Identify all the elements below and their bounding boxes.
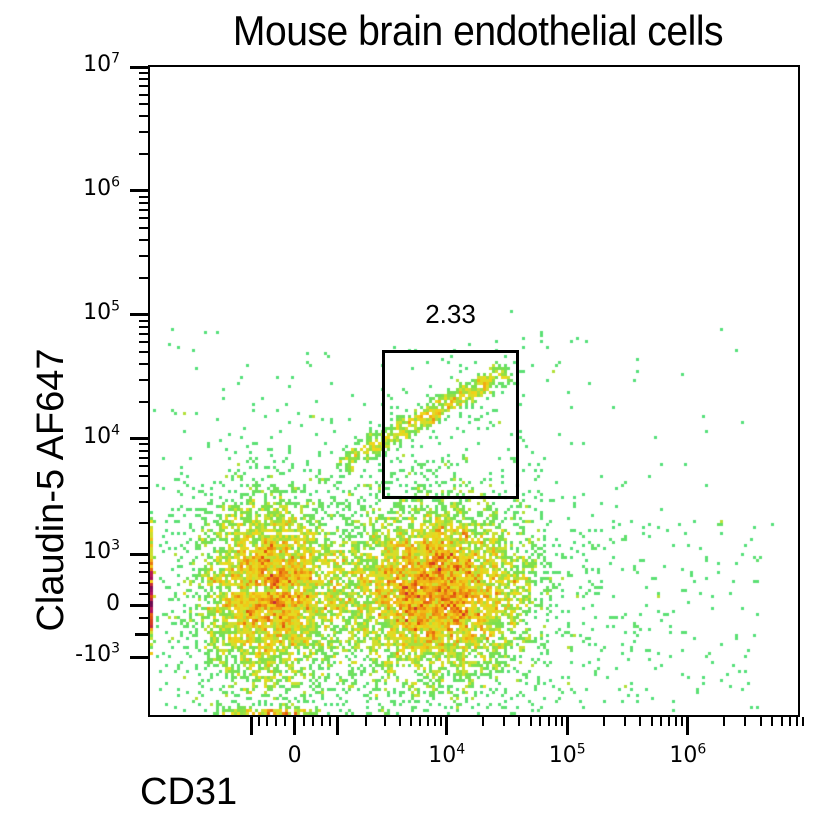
y-tick (130, 656, 148, 659)
x-tick (555, 717, 557, 726)
x-axis-title: CD31 (140, 772, 237, 812)
y-tick (139, 153, 148, 155)
x-tick (275, 717, 277, 726)
y-tick (139, 239, 148, 241)
y-tick-label: 0 (40, 593, 120, 615)
x-tick (603, 717, 605, 726)
x-tick (434, 717, 436, 726)
x-tick (440, 717, 442, 726)
x-tick (303, 717, 305, 726)
y-tick (139, 475, 148, 477)
x-tick-label: 106 (643, 745, 733, 767)
x-tick (675, 717, 677, 726)
x-tick (668, 717, 670, 726)
gate-percent-label: 2.33 (342, 300, 559, 328)
x-tick (781, 717, 783, 726)
x-tick (365, 717, 367, 726)
y-tick (139, 72, 148, 74)
y-tick (139, 94, 148, 96)
x-tick (321, 717, 323, 726)
y-tick (139, 617, 148, 619)
y-tick (139, 103, 148, 105)
y-tick (139, 582, 148, 584)
y-tick (139, 341, 148, 343)
x-tick (789, 717, 791, 726)
x-tick (419, 717, 421, 726)
y-tick (130, 553, 148, 556)
y-tick (139, 255, 148, 257)
y-tick (139, 487, 148, 489)
x-tick (660, 717, 662, 726)
x-tick (796, 717, 798, 726)
x-tick (312, 717, 314, 726)
y-tick (130, 189, 148, 192)
y-tick-label: 106 (40, 178, 120, 200)
y-tick-label: 107 (40, 54, 120, 76)
y-tick (139, 326, 148, 328)
x-tick (686, 717, 689, 735)
x-tick (258, 717, 260, 726)
x-tick (530, 717, 532, 726)
x-tick (723, 717, 725, 726)
x-tick (445, 717, 448, 735)
y-tick (139, 131, 148, 133)
y-tick (135, 633, 148, 636)
y-tick (139, 562, 148, 564)
y-tick (130, 66, 148, 69)
x-tick (651, 717, 653, 726)
x-tick (482, 717, 484, 726)
x-tick (384, 717, 386, 726)
x-tick (566, 717, 569, 735)
x-tick (639, 717, 641, 726)
x-tick (760, 717, 762, 726)
x-tick (771, 717, 773, 726)
y-tick (139, 202, 148, 204)
y-tick-label: 105 (40, 302, 120, 324)
x-tick (427, 717, 429, 726)
y-tick-label: -103 (40, 644, 120, 666)
y-tick-label: 104 (40, 426, 120, 448)
y-tick (139, 363, 148, 365)
y-tick (139, 333, 148, 335)
x-tick (266, 717, 268, 726)
x-tick (399, 717, 401, 726)
x-tick (250, 717, 253, 735)
y-tick (139, 593, 148, 595)
y-tick (139, 78, 148, 80)
y-tick (139, 443, 148, 445)
x-tick (503, 717, 505, 726)
x-tick (336, 717, 339, 735)
y-tick (130, 313, 148, 316)
y-tick (139, 465, 148, 467)
x-tick-label: 104 (402, 745, 492, 767)
y-tick (139, 522, 148, 524)
page-title: Mouse brain endothelial cells (171, 8, 785, 54)
y-tick (139, 320, 148, 322)
y-tick (139, 115, 148, 117)
x-tick (410, 717, 412, 726)
x-tick (744, 717, 746, 726)
x-tick-label: 105 (522, 745, 612, 767)
x-tick (548, 717, 550, 726)
x-tick (802, 717, 804, 726)
y-tick (139, 351, 148, 353)
y-tick (139, 501, 148, 503)
flow-cytometry-plot: Mouse brain endothelial cells Claudin-5 … (0, 0, 833, 833)
y-tick (130, 437, 148, 440)
y-tick (139, 196, 148, 198)
y-tick (130, 604, 148, 607)
x-tick (681, 717, 683, 726)
x-tick (561, 717, 563, 726)
y-tick (139, 277, 148, 279)
x-tick (293, 717, 296, 735)
gate-rectangle[interactable] (382, 350, 519, 499)
y-tick (139, 209, 148, 211)
y-tick (139, 85, 148, 87)
y-tick-label: 103 (40, 541, 120, 563)
y-tick (139, 217, 148, 219)
y-tick (139, 227, 148, 229)
y-tick (139, 379, 148, 381)
y-tick (139, 450, 148, 452)
x-tick (284, 717, 286, 726)
y-tick (139, 401, 148, 403)
x-tick (539, 717, 541, 726)
x-tick (329, 717, 331, 726)
plot-frame (148, 65, 800, 717)
x-tick (518, 717, 520, 726)
x-tick (624, 717, 626, 726)
x-tick-label: 0 (250, 745, 340, 767)
y-tick (139, 457, 148, 459)
y-tick (139, 571, 148, 573)
